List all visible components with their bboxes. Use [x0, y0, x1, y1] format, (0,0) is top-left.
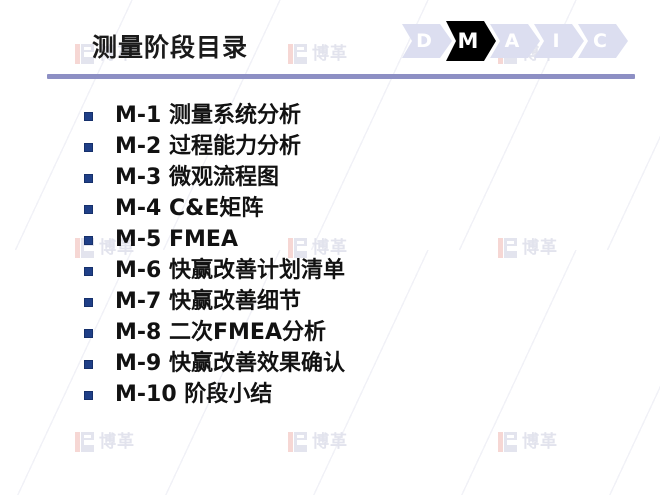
page-title: 测量阶段目录 [92, 28, 248, 64]
toc-item[interactable]: M-10 阶段小结 [0, 379, 660, 410]
dmaic-phase-i[interactable]: I [534, 24, 584, 58]
dmaic-phase-a[interactable]: A [490, 24, 540, 58]
dmaic-phase-letter: D [416, 30, 432, 52]
bullet-square-icon [84, 360, 93, 369]
bullet-square-icon [84, 143, 93, 152]
toc-item-label: M-9 快赢改善效果确认 [115, 353, 345, 375]
bullet-square-icon [84, 298, 93, 307]
brand-mark-icon [288, 432, 307, 452]
bullet-square-icon [84, 205, 93, 214]
watermark-logo: 博革 [288, 432, 348, 452]
toc-item-label: M-1 测量系统分析 [115, 105, 301, 127]
toc-item-label: M-6 快赢改善计划清单 [115, 260, 345, 282]
dmaic-phase-d[interactable]: D [402, 24, 452, 58]
toc-item[interactable]: M-6 快赢改善计划清单 [0, 255, 660, 286]
dmaic-phase-letter: A [505, 30, 520, 52]
toc-item[interactable]: M-1 测量系统分析 [0, 100, 660, 131]
dmaic-phase-letter: C [593, 30, 607, 52]
toc-item[interactable]: M-2 过程能力分析 [0, 131, 660, 162]
dmaic-phase-c[interactable]: C [578, 24, 628, 58]
title-divider-rule [47, 74, 635, 79]
slide-canvas: 博革博革博革博革博革博革博革博革博革 测量阶段目录 DMAIC M-1 测量系统… [0, 0, 660, 495]
toc-item-label: M-2 过程能力分析 [115, 136, 301, 158]
brand-mark-icon [498, 432, 517, 452]
bullet-square-icon [84, 236, 93, 245]
watermark-logo: 博革 [498, 432, 558, 452]
toc-item[interactable]: M-9 快赢改善效果确认 [0, 348, 660, 379]
toc-item[interactable]: M-4 C&E矩阵 [0, 193, 660, 224]
slide-header: 测量阶段目录 DMAIC [0, 0, 660, 85]
watermark-logo: 博革 [75, 432, 135, 452]
dmaic-phase-indicator: DMAIC [402, 23, 652, 59]
toc-item-label: M-3 微观流程图 [115, 167, 279, 189]
dmaic-phase-letter: I [552, 30, 559, 52]
bullet-square-icon [84, 329, 93, 338]
toc-list: M-1 测量系统分析M-2 过程能力分析M-3 微观流程图M-4 C&E矩阵M-… [0, 100, 660, 410]
bullet-square-icon [84, 267, 93, 276]
toc-item-label: M-10 阶段小结 [115, 384, 272, 406]
watermark-text: 博革 [312, 434, 348, 451]
toc-item[interactable]: M-8 二次FMEA分析 [0, 317, 660, 348]
brand-mark-icon [75, 432, 94, 452]
bullet-square-icon [84, 391, 93, 400]
toc-item-label: M-5 FMEA [115, 229, 238, 251]
toc-item[interactable]: M-3 微观流程图 [0, 162, 660, 193]
watermark-text: 博革 [99, 434, 135, 451]
dmaic-phase-m[interactable]: M [446, 21, 496, 61]
toc-item[interactable]: M-5 FMEA [0, 224, 660, 255]
watermark-text: 博革 [522, 434, 558, 451]
bullet-square-icon [84, 174, 93, 183]
toc-item-label: M-8 二次FMEA分析 [115, 322, 326, 344]
toc-item-label: M-4 C&E矩阵 [115, 198, 263, 220]
toc-item-label: M-7 快赢改善细节 [115, 291, 301, 313]
toc-item[interactable]: M-7 快赢改善细节 [0, 286, 660, 317]
dmaic-phase-letter: M [458, 29, 479, 53]
bullet-square-icon [84, 112, 93, 121]
